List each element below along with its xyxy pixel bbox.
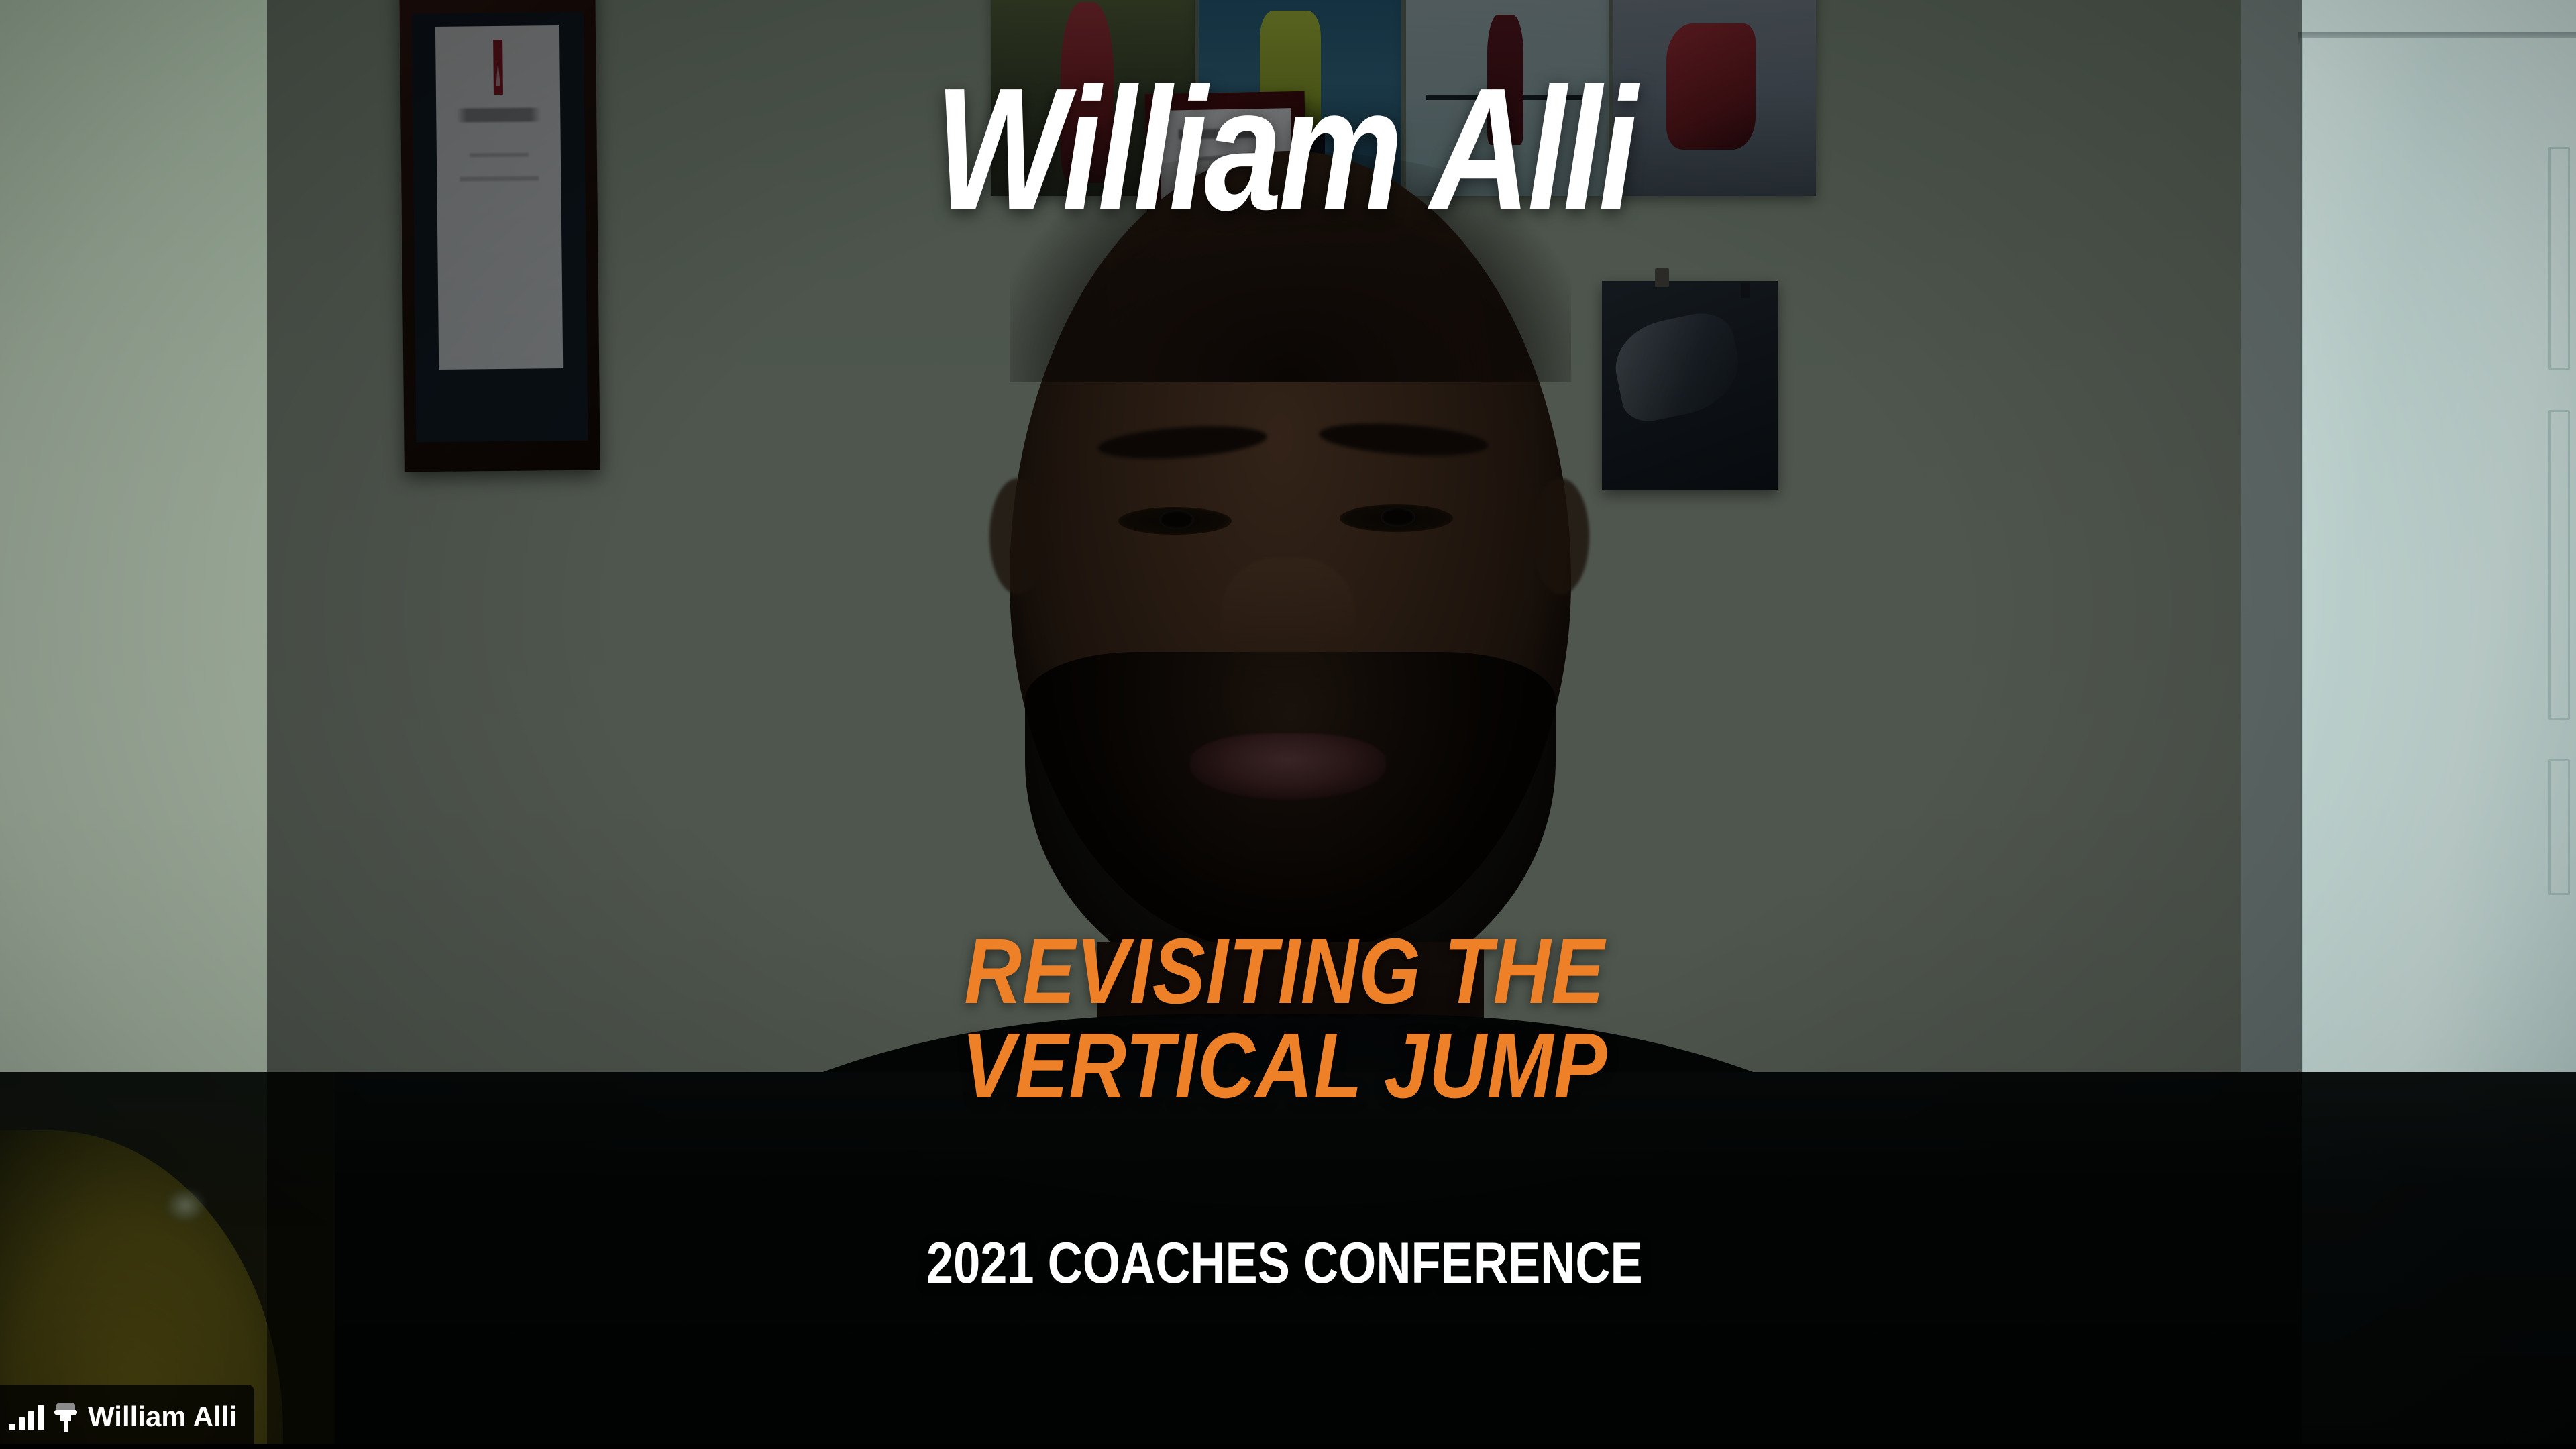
participant-name-label: William Alli bbox=[88, 1401, 237, 1433]
participant-name-badge[interactable]: William Alli bbox=[0, 1385, 254, 1449]
presenter-pupil-right bbox=[1381, 507, 1415, 527]
webcam-video-feed[interactable] bbox=[0, 0, 2576, 1449]
video-call-stage: William Alli REVISITING THE VERTICAL JUM… bbox=[0, 0, 2576, 1449]
pin-icon[interactable] bbox=[54, 1402, 77, 1432]
pillow-highlight bbox=[165, 1188, 206, 1223]
couch-back bbox=[0, 1072, 2576, 1449]
bottom-letterbox bbox=[0, 1444, 2576, 1449]
presenter-ear-right bbox=[1533, 478, 1589, 594]
presenter-mouth bbox=[1190, 733, 1386, 800]
presenter-ear-left bbox=[989, 478, 1046, 594]
signal-bars-icon bbox=[9, 1403, 44, 1430]
presenter-hairline bbox=[1010, 151, 1571, 383]
